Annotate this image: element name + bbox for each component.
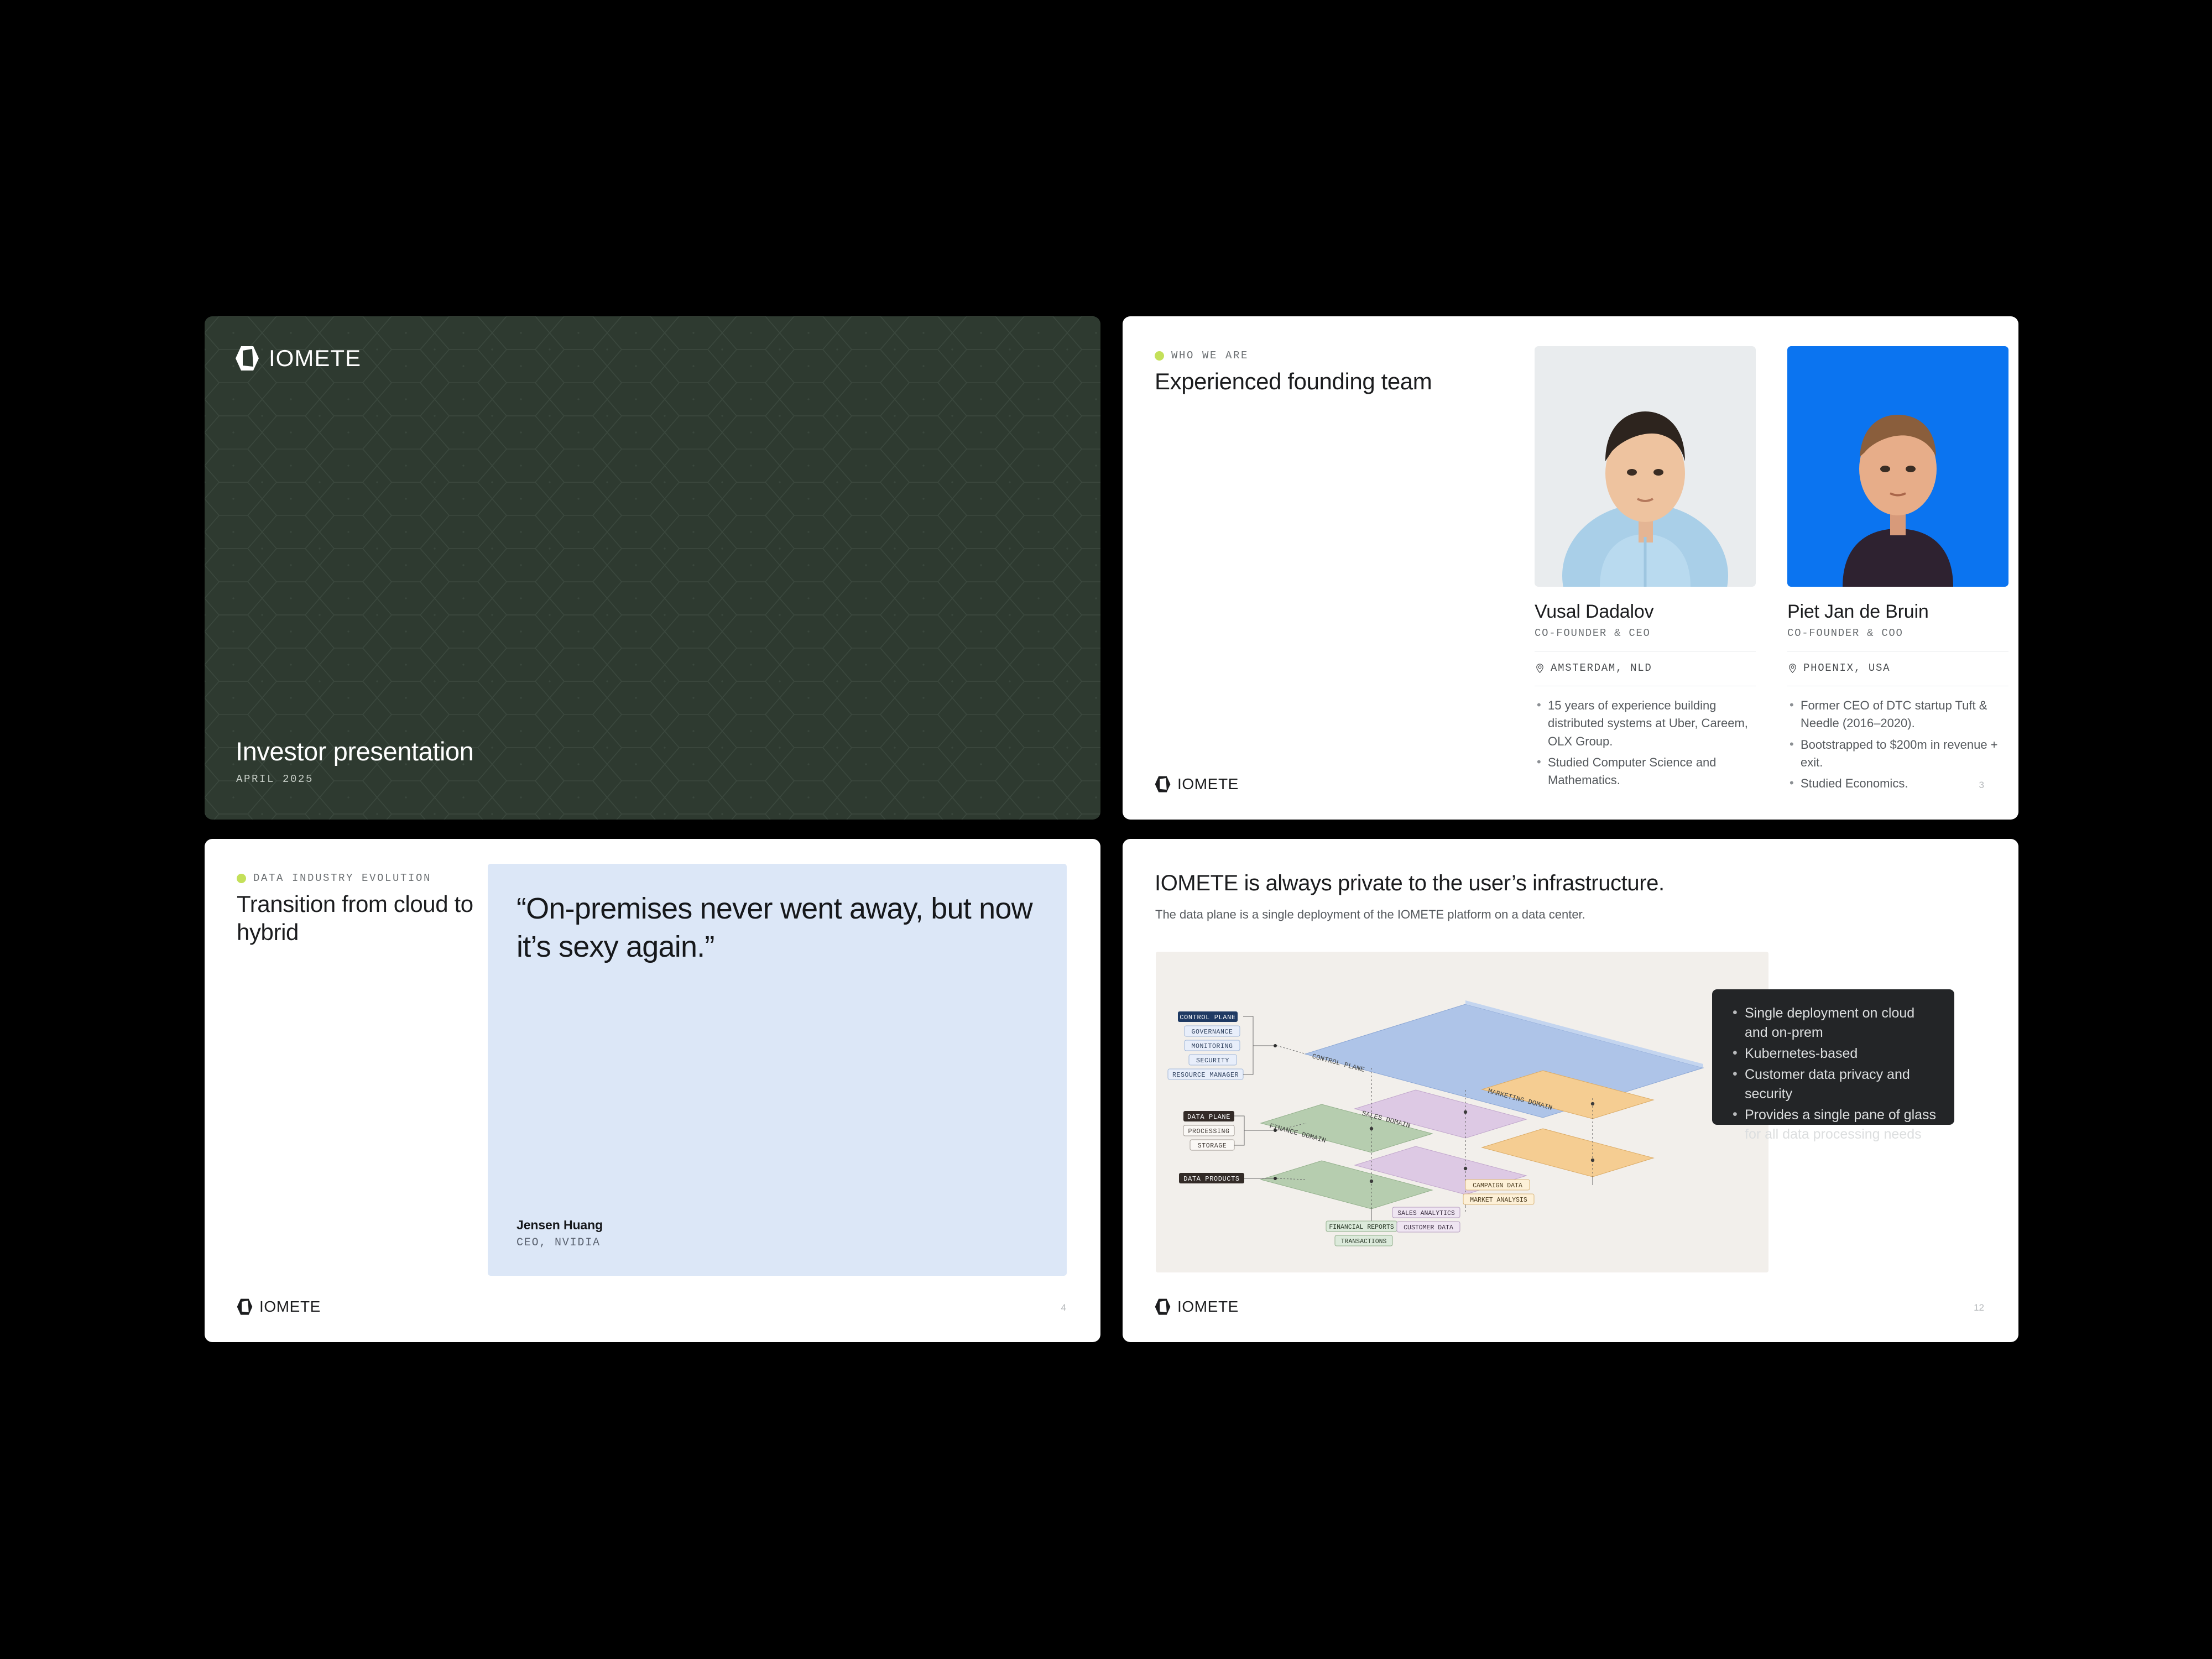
page-number: 3 xyxy=(1979,780,1984,791)
list-item: Kubernetes-based xyxy=(1731,1044,1938,1063)
footer-wordmark: IOMETE xyxy=(1177,775,1239,793)
svg-text:SALES ANALYTICS: SALES ANALYTICS xyxy=(1397,1210,1455,1217)
list-item: Studied Economics. xyxy=(1787,775,2008,792)
quote-card: “On-premises never went away, but now it… xyxy=(488,864,1067,1276)
iomete-hexagon-icon xyxy=(1155,1298,1171,1316)
location-pin-icon xyxy=(1787,663,1798,674)
founder-location-text: AMSTERDAM, NLD xyxy=(1551,662,1652,674)
founder-name: Vusal Dadalov xyxy=(1535,601,1756,623)
list-item: Customer data privacy and security xyxy=(1731,1065,1938,1104)
footer-logo: IOMETE xyxy=(1155,775,1239,793)
list-item: 15 years of experience building distribu… xyxy=(1535,697,1756,750)
founder-role: CO-FOUNDER & CEO xyxy=(1535,627,1756,639)
list-item: Former CEO of DTC startup Tuft & Needle … xyxy=(1787,697,2008,733)
eyebrow-label: DATA INDUSTRY EVOLUTION xyxy=(237,872,474,884)
slide-deck: IOMETE Investor presentation APRIL 2025 … xyxy=(205,316,2016,1345)
founder-location: PHOENIX, USA xyxy=(1787,662,2008,674)
list-item: Provides a single pane of glass for all … xyxy=(1731,1105,1938,1144)
architecture-diagram: CONTROL PLANE GOVERNANCE MONITORING SECU… xyxy=(1156,952,1768,1272)
location-pin-icon xyxy=(1535,663,1545,674)
presentation-title: Investor presentation xyxy=(236,736,474,766)
divider xyxy=(1535,686,1756,686)
svg-text:RESOURCE MANAGER: RESOURCE MANAGER xyxy=(1172,1072,1239,1079)
iomete-logo: IOMETE xyxy=(235,345,361,372)
founder-location-text: PHOENIX, USA xyxy=(1803,662,1890,674)
divider xyxy=(1787,686,2008,686)
divider xyxy=(1535,651,1756,651)
presentation-date: APRIL 2025 xyxy=(236,773,314,785)
architecture-callout: Single deployment on cloud and on-prem K… xyxy=(1712,989,1954,1125)
quote-attribution: Jensen Huang CEO, NVIDIA xyxy=(517,1218,603,1249)
svg-text:PROCESSING: PROCESSING xyxy=(1188,1128,1229,1135)
page-title: Transition from cloud to hybrid xyxy=(237,890,474,947)
svg-text:DATA PLANE: DATA PLANE xyxy=(1187,1113,1230,1121)
quote-text: “On-premises never went away, but now it… xyxy=(517,890,1036,966)
iomete-hexagon-icon xyxy=(237,1298,253,1316)
svg-text:CUSTOMER DATA: CUSTOMER DATA xyxy=(1404,1224,1453,1232)
slide-architecture[interactable]: IOMETE is always private to the user’s i… xyxy=(1123,839,2018,1342)
avatar xyxy=(1787,346,2008,587)
avatar xyxy=(1535,346,1756,587)
founder-card[interactable]: Vusal Dadalov CO-FOUNDER & CEO AMSTERDAM… xyxy=(1535,346,1756,796)
page-number: 4 xyxy=(1061,1302,1066,1313)
quote-author-role: CEO, NVIDIA xyxy=(517,1237,603,1249)
quote-author-name: Jensen Huang xyxy=(517,1218,603,1233)
footer-wordmark: IOMETE xyxy=(1177,1298,1239,1316)
divider xyxy=(1787,651,2008,651)
founder-card[interactable]: Piet Jan de Bruin CO-FOUNDER & COO PHOEN… xyxy=(1787,346,2008,796)
svg-text:GOVERNANCE: GOVERNANCE xyxy=(1191,1029,1233,1036)
svg-text:MARKET ANALYSIS: MARKET ANALYSIS xyxy=(1470,1197,1527,1204)
footer-logo: IOMETE xyxy=(237,1298,321,1316)
svg-text:STORAGE: STORAGE xyxy=(1198,1142,1227,1150)
svg-text:TRANSACTIONS: TRANSACTIONS xyxy=(1341,1238,1387,1245)
logo-wordmark: IOMETE xyxy=(269,345,361,372)
page-subtitle: The data plane is a single deployment of… xyxy=(1155,907,1585,922)
slide-header: WHO WE ARE Experienced founding team xyxy=(1155,349,1432,396)
svg-text:CAMPAIGN DATA: CAMPAIGN DATA xyxy=(1473,1182,1522,1190)
list-item: Bootstrapped to $200m in revenue + exit. xyxy=(1787,736,2008,772)
svg-text:SECURITY: SECURITY xyxy=(1196,1057,1229,1065)
footer-wordmark: IOMETE xyxy=(259,1298,321,1316)
page-title: IOMETE is always private to the user’s i… xyxy=(1155,871,1665,896)
slide-founding-team[interactable]: WHO WE ARE Experienced founding team xyxy=(1123,316,2018,820)
list-item: Single deployment on cloud and on-prem xyxy=(1731,1004,1938,1042)
iomete-hexagon-icon xyxy=(235,346,259,371)
slide-quote[interactable]: DATA INDUSTRY EVOLUTION Transition from … xyxy=(205,839,1100,1342)
eyebrow-text: WHO WE ARE xyxy=(1171,349,1249,362)
founder-bullets: 15 years of experience building distribu… xyxy=(1535,697,1756,790)
accent-dot-icon xyxy=(1155,351,1164,361)
iomete-hexagon-icon xyxy=(1155,776,1171,793)
founder-card-list: Vusal Dadalov CO-FOUNDER & CEO AMSTERDAM… xyxy=(1535,346,2008,796)
slide-header: DATA INDUSTRY EVOLUTION Transition from … xyxy=(237,872,474,947)
founder-role: CO-FOUNDER & COO xyxy=(1787,627,2008,639)
page-number: 12 xyxy=(1974,1302,1984,1313)
founder-bullets: Former CEO of DTC startup Tuft & Needle … xyxy=(1787,697,2008,793)
eyebrow-label: WHO WE ARE xyxy=(1155,349,1432,362)
slide-title[interactable]: IOMETE Investor presentation APRIL 2025 xyxy=(205,316,1100,820)
svg-text:FINANCIAL REPORTS: FINANCIAL REPORTS xyxy=(1329,1224,1394,1231)
eyebrow-text: DATA INDUSTRY EVOLUTION xyxy=(253,872,431,884)
footer-logo: IOMETE xyxy=(1155,1298,1239,1316)
svg-text:CONTROL PLANE: CONTROL PLANE xyxy=(1180,1014,1235,1021)
page-title: Experienced founding team xyxy=(1155,368,1432,396)
svg-text:MONITORING: MONITORING xyxy=(1191,1043,1233,1050)
list-item: Studied Computer Science and Mathematics… xyxy=(1535,754,1756,790)
accent-dot-icon xyxy=(237,874,246,883)
callout-bullets: Single deployment on cloud and on-prem K… xyxy=(1731,1004,1938,1144)
founder-name: Piet Jan de Bruin xyxy=(1787,601,2008,623)
founder-location: AMSTERDAM, NLD xyxy=(1535,662,1756,674)
svg-text:DATA PRODUCTS: DATA PRODUCTS xyxy=(1183,1175,1239,1183)
